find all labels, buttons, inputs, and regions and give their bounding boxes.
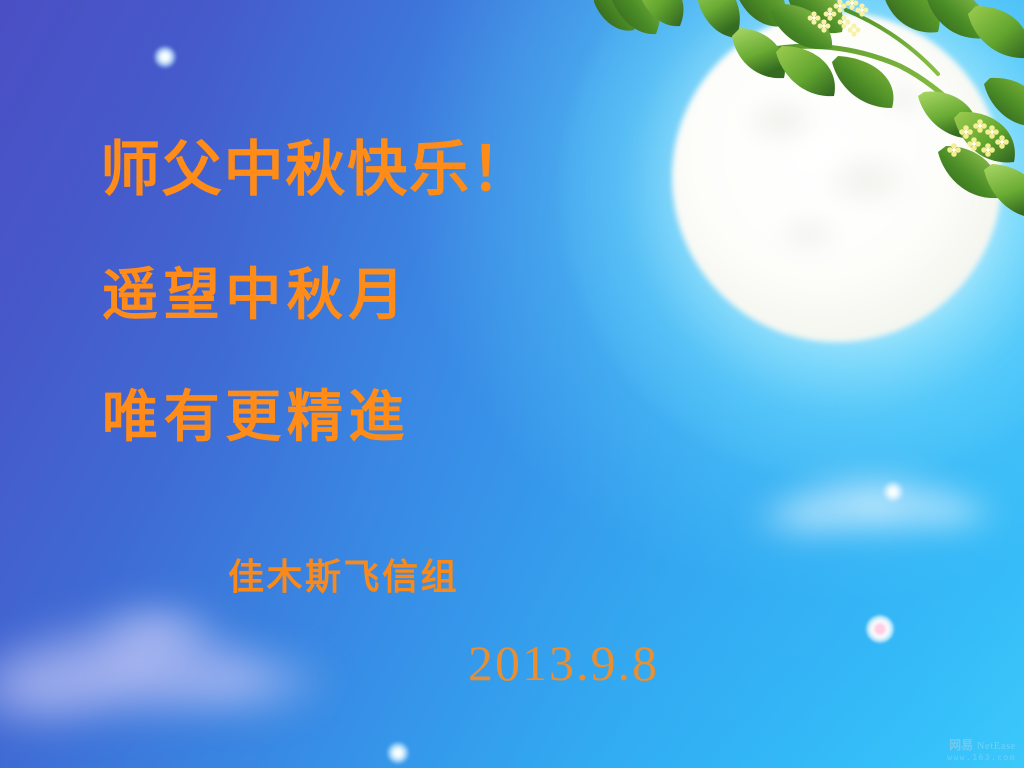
greeting-text-layer: 师父中秋快乐！ 遥望中秋月 唯有更精進 佳木斯飞信组 2013.9.8 [0, 0, 1024, 768]
mid-autumn-greeting-card: 师父中秋快乐！ 遥望中秋月 唯有更精進 佳木斯飞信组 2013.9.8 网易 N… [0, 0, 1024, 768]
greeting-line-2: 遥望中秋月 [102, 268, 410, 324]
signature-text: 佳木斯飞信组 [228, 560, 459, 596]
greeting-line-3: 唯有更精進 [102, 390, 410, 446]
greeting-line-1: 师父中秋快乐！ [100, 140, 533, 200]
date-text: 2013.9.8 [468, 638, 659, 688]
